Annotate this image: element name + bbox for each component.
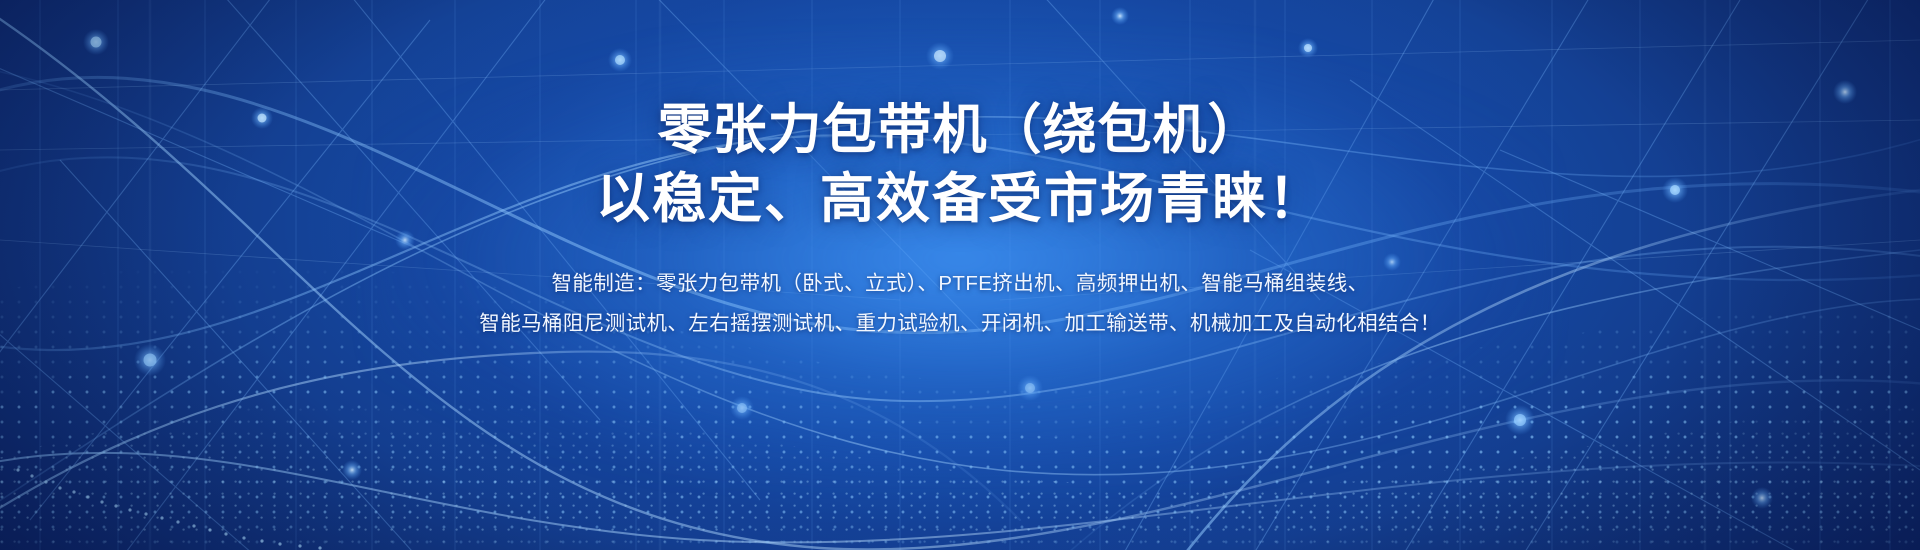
subtitle-line-2: 智能马桶阻尼测试机、左右摇摆测试机、重力试验机、开闭机、加工输送带、机械加工及自… [479,304,1440,344]
subtitle-block: 智能制造：零张力包带机（卧式、立式）、PTFE挤出机、高频押出机、智能马桶组装线… [479,264,1440,344]
subtitle-line-1: 智能制造：零张力包带机（卧式、立式）、PTFE挤出机、高频押出机、智能马桶组装线… [479,264,1440,304]
banner-content: 零张力包带机（绕包机） 以稳定、高效备受市场青睐！ 智能制造：零张力包带机（卧式… [0,0,1920,550]
headline-line-2: 以稳定、高效备受市场青睐！ [596,165,1324,234]
hero-banner: 零张力包带机（绕包机） 以稳定、高效备受市场青睐！ 智能制造：零张力包带机（卧式… [0,0,1920,550]
headline-line-1: 零张力包带机（绕包机） [658,96,1263,165]
